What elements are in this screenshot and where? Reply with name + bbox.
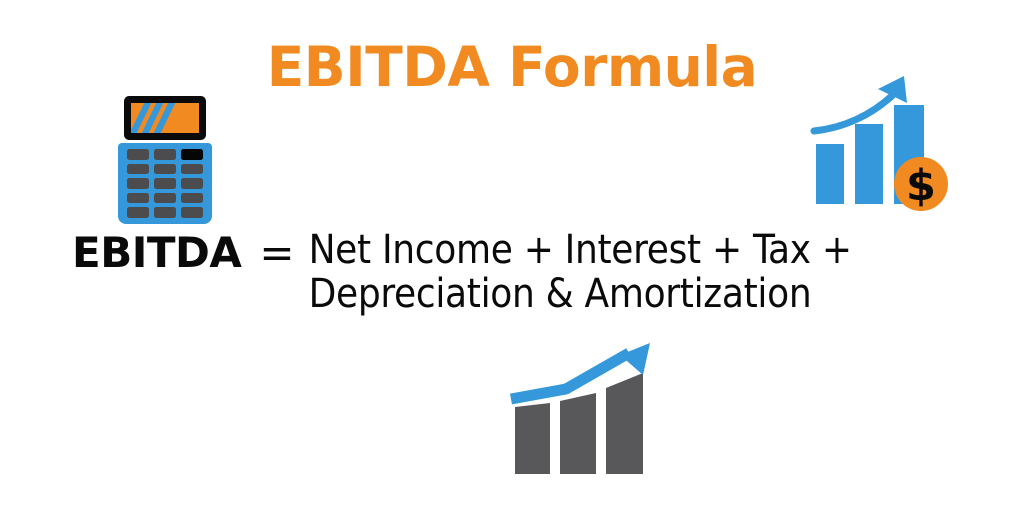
calculator-keypad [127, 149, 203, 218]
calculator-key [181, 193, 203, 204]
chart-top-right-svg: $ [804, 76, 962, 214]
dollar-coin-icon: $ [894, 157, 948, 211]
ebitda-formula: EBITDA = Net Income + Interest + Tax + D… [72, 228, 962, 318]
calculator-screen [131, 103, 199, 133]
calculator-key [127, 164, 149, 175]
calculator-key [154, 207, 176, 218]
formula-line-1: Net Income + Interest + Tax + [309, 228, 852, 272]
growth-bar-chart-with-dollar-coin-icon: $ [804, 76, 962, 214]
calculator-key [154, 178, 176, 189]
calculator-key [181, 178, 203, 189]
formula-right-hand-side: Net Income + Interest + Tax + Depreciati… [309, 228, 852, 316]
calculator-key-highlight [181, 149, 203, 160]
chart-bar [855, 124, 883, 204]
growth-bar-chart-icon [503, 343, 671, 481]
calculator-key [127, 193, 149, 204]
calculator-key [127, 207, 149, 218]
calculator-key [154, 193, 176, 204]
chart-bar [515, 403, 550, 474]
calculator-key [181, 164, 203, 175]
chart-bar [560, 393, 596, 474]
calculator-screen-frame [124, 96, 206, 140]
chart-bar [816, 144, 844, 204]
upward-arrow-icon [814, 76, 907, 131]
formula-equals-sign: = [259, 228, 294, 278]
calculator-key [154, 164, 176, 175]
coin-dollar-symbol: $ [906, 161, 936, 211]
chart-bottom-svg [503, 343, 671, 481]
formula-line-2: Depreciation & Amortization [309, 272, 852, 316]
calculator-key [154, 149, 176, 160]
calculator-key [127, 149, 149, 160]
infographic-canvas: EBITDA Formula [0, 0, 1024, 526]
calculator-key [127, 178, 149, 189]
chart-bar [606, 373, 643, 474]
calculator-body [118, 143, 212, 224]
calculator-icon [118, 96, 212, 224]
calculator-key [181, 207, 203, 218]
formula-left-hand-side: EBITDA [72, 228, 241, 278]
